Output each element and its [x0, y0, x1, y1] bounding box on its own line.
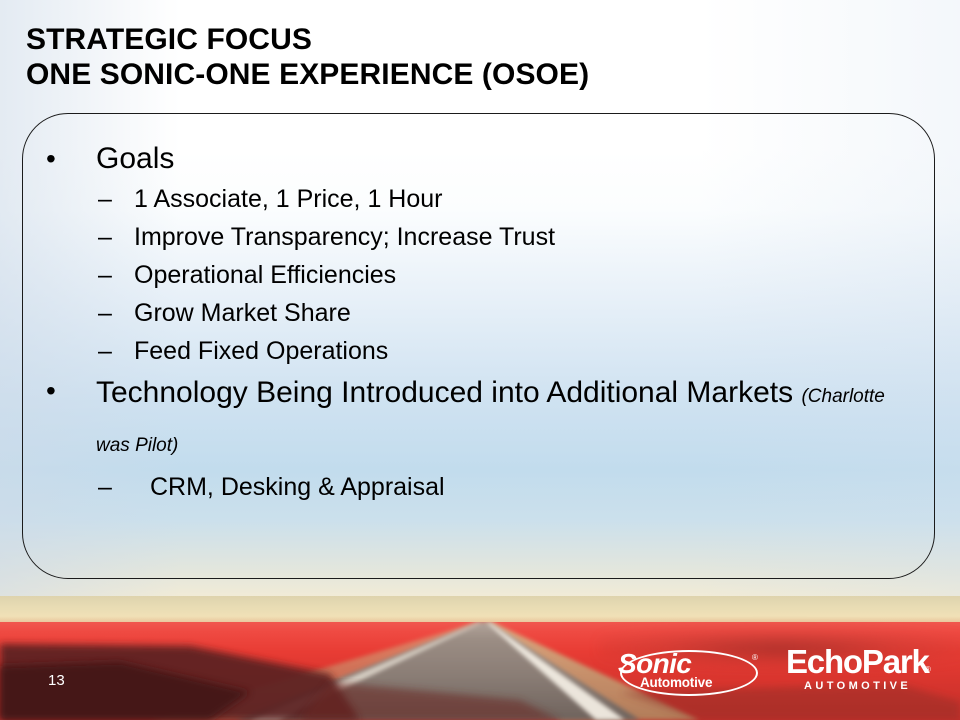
- sonic-automotive-logo: Sonic ® Automotive: [612, 646, 762, 698]
- bullet-text: 1 Associate, 1 Price, 1 Hour: [134, 185, 442, 213]
- sonic-registered-icon: ®: [752, 654, 758, 662]
- slide-title-line-1: STRATEGIC FOCUS: [26, 22, 926, 57]
- bullet-marker-dash: –: [98, 468, 112, 506]
- bullet-marker-dash: –: [98, 180, 112, 218]
- bullet-text: Improve Transparency; Increase Trust: [134, 223, 555, 251]
- bullet-text: Technology Being Introduced into Additio…: [96, 376, 793, 409]
- bullet-item-transparency-trust: – Improve Transparency; Increase Trust: [40, 218, 920, 256]
- bullet-text: CRM, Desking & Appraisal: [150, 473, 445, 501]
- bullet-text: Grow Market Share: [134, 299, 351, 327]
- slide-title: STRATEGIC FOCUS ONE SONIC-ONE EXPERIENCE…: [26, 22, 926, 92]
- presentation-slide: STRATEGIC FOCUS ONE SONIC-ONE EXPERIENCE…: [0, 0, 960, 720]
- bullet-item-grow-market-share: – Grow Market Share: [40, 294, 920, 332]
- bullet-text: Feed Fixed Operations: [134, 337, 388, 365]
- bullet-marker-dash: –: [98, 332, 112, 370]
- bullet-item-associate-price-hour: – 1 Associate, 1 Price, 1 Hour: [40, 180, 920, 218]
- echopark-automotive-logo: EchoPark ® AUTOMOTIVE: [786, 644, 946, 698]
- echopark-wordmark: EchoPark: [786, 644, 929, 679]
- echopark-subtitle: AUTOMOTIVE: [804, 680, 911, 693]
- bullet-item-crm-desking-appraisal: – CRM, Desking & Appraisal: [40, 468, 920, 506]
- slide-title-line-2: ONE SONIC-ONE EXPERIENCE (OSOE): [26, 57, 926, 92]
- echopark-registered-icon: ®: [925, 666, 931, 674]
- bullet-marker-dash: –: [98, 256, 112, 294]
- bullet-text: Operational Efficiencies: [134, 261, 396, 289]
- bullet-item-feed-fixed-operations: – Feed Fixed Operations: [40, 332, 920, 370]
- bullet-marker-dash: –: [98, 294, 112, 332]
- bullet-marker-dot: •: [46, 370, 56, 412]
- bullet-marker-dash: –: [98, 218, 112, 256]
- sonic-subtitle: Automotive: [640, 675, 712, 690]
- bullet-marker-dot: •: [46, 138, 56, 180]
- bullet-list: • Goals – 1 Associate, 1 Price, 1 Hour –…: [40, 138, 920, 506]
- bullet-item-goals: • Goals: [40, 138, 920, 180]
- photo-sky-band: [0, 596, 960, 623]
- bullet-item-operational-efficiencies: – Operational Efficiencies: [40, 256, 920, 294]
- bullet-item-technology-markets: • Technology Being Introduced into Addit…: [40, 370, 920, 468]
- page-number: 13: [48, 672, 65, 690]
- bullet-text: Goals: [96, 142, 174, 175]
